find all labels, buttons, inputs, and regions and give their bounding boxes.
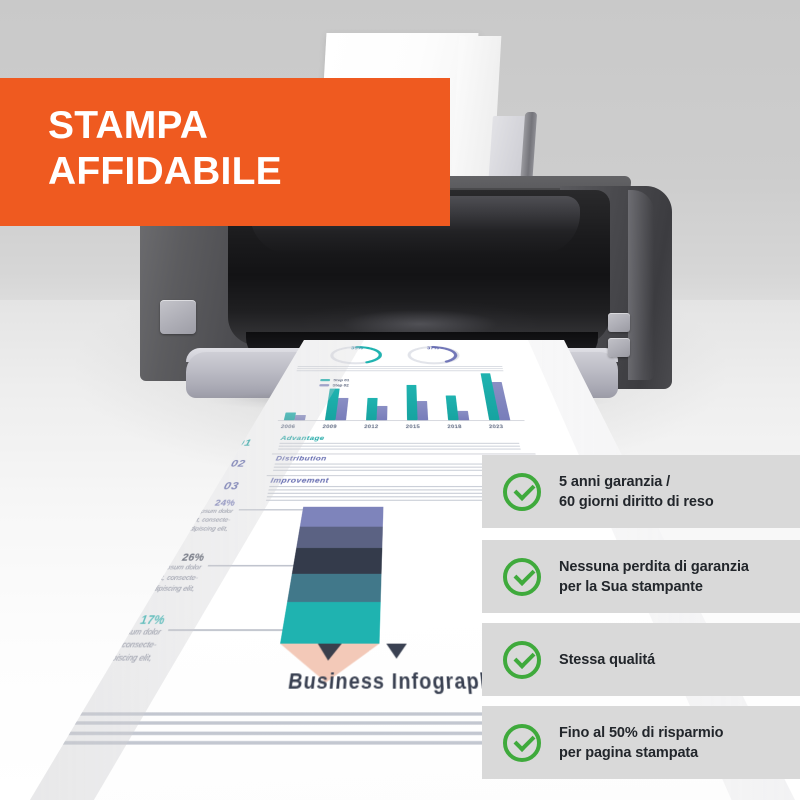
headline-banner: STAMPA AFFIDABILE — [0, 78, 450, 226]
feature-badge-2-text: Nessuna perdita di garanzia per la Sua s… — [559, 557, 749, 597]
check-circle-icon — [503, 641, 541, 679]
feature-badge-1-text: 5 anni garanzia / 60 giorni diritto di r… — [559, 472, 714, 512]
check-circle-icon — [503, 473, 541, 511]
headline-text: STAMPA AFFIDABILE — [48, 103, 282, 195]
feature-badge-4[interactable]: Fino al 50% di risparmio per pagina stam… — [482, 706, 800, 779]
check-circle-icon — [503, 558, 541, 596]
feature-badge-2[interactable]: Nessuna perdita di garanzia per la Sua s… — [482, 540, 800, 613]
check-circle-icon — [503, 724, 541, 762]
advertisement-banner: Banner Infographics 35% 37% — [0, 0, 800, 800]
feature-badge-3[interactable]: Stessa qualitá — [482, 623, 800, 696]
feature-badge-3-text: Stessa qualitá — [559, 650, 655, 670]
feature-badge-1[interactable]: 5 anni garanzia / 60 giorni diritto di r… — [482, 455, 800, 528]
feature-badge-4-text: Fino al 50% di risparmio per pagina stam… — [559, 723, 723, 763]
